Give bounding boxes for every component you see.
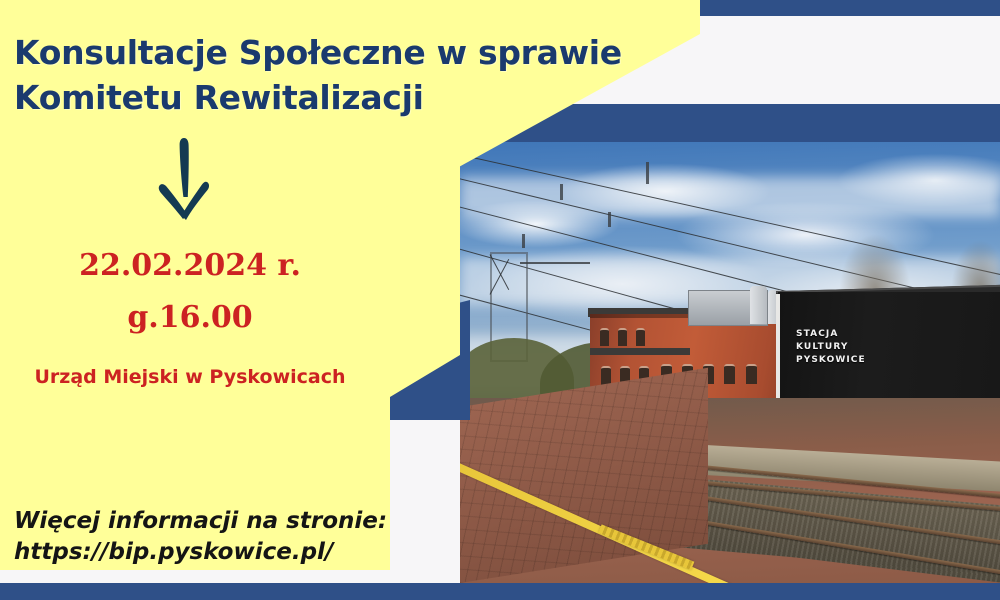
more-info-label: Więcej informacji na stronie:: [14, 506, 444, 537]
window: [601, 366, 611, 385]
page-title: Konsultacje Społeczne w sprawie Komitetu…: [14, 30, 674, 120]
more-info-url[interactable]: https://bip.pyskowice.pl/: [14, 537, 444, 568]
event-date: 22.02.2024 r.: [0, 248, 380, 283]
brick-lower-roof: [590, 348, 690, 355]
down-arrow-icon: [150, 135, 230, 225]
event-place: Urząd Miejski w Pyskowicach: [0, 366, 380, 388]
more-info: Więcej informacji na stronie: https://bi…: [14, 506, 444, 568]
window: [724, 364, 735, 384]
rooftop-silo: [750, 286, 767, 324]
poster-canvas: STACJA KULTURY PYSKOWICE Konsultacje Spo…: [0, 0, 1000, 600]
bottom-navy-bar: [0, 583, 1000, 600]
catenary-dropper: [646, 162, 649, 184]
window: [636, 328, 645, 346]
catenary-dropper: [560, 184, 563, 200]
catenary-dropper: [522, 234, 525, 248]
event-time: g.16.00: [0, 300, 380, 335]
title-line-2: Komitetu Rewitalizacji: [14, 75, 674, 120]
catenary-dropper: [608, 212, 611, 227]
title-line-1: Konsultacje Społeczne w sprawie: [14, 30, 674, 75]
building-sign: STACJA KULTURY PYSKOWICE: [796, 328, 866, 367]
station-photo: STACJA KULTURY PYSKOWICE: [460, 142, 1000, 583]
window: [618, 328, 627, 346]
window: [600, 328, 609, 346]
window: [746, 364, 757, 384]
pylon-arm: [520, 262, 590, 264]
